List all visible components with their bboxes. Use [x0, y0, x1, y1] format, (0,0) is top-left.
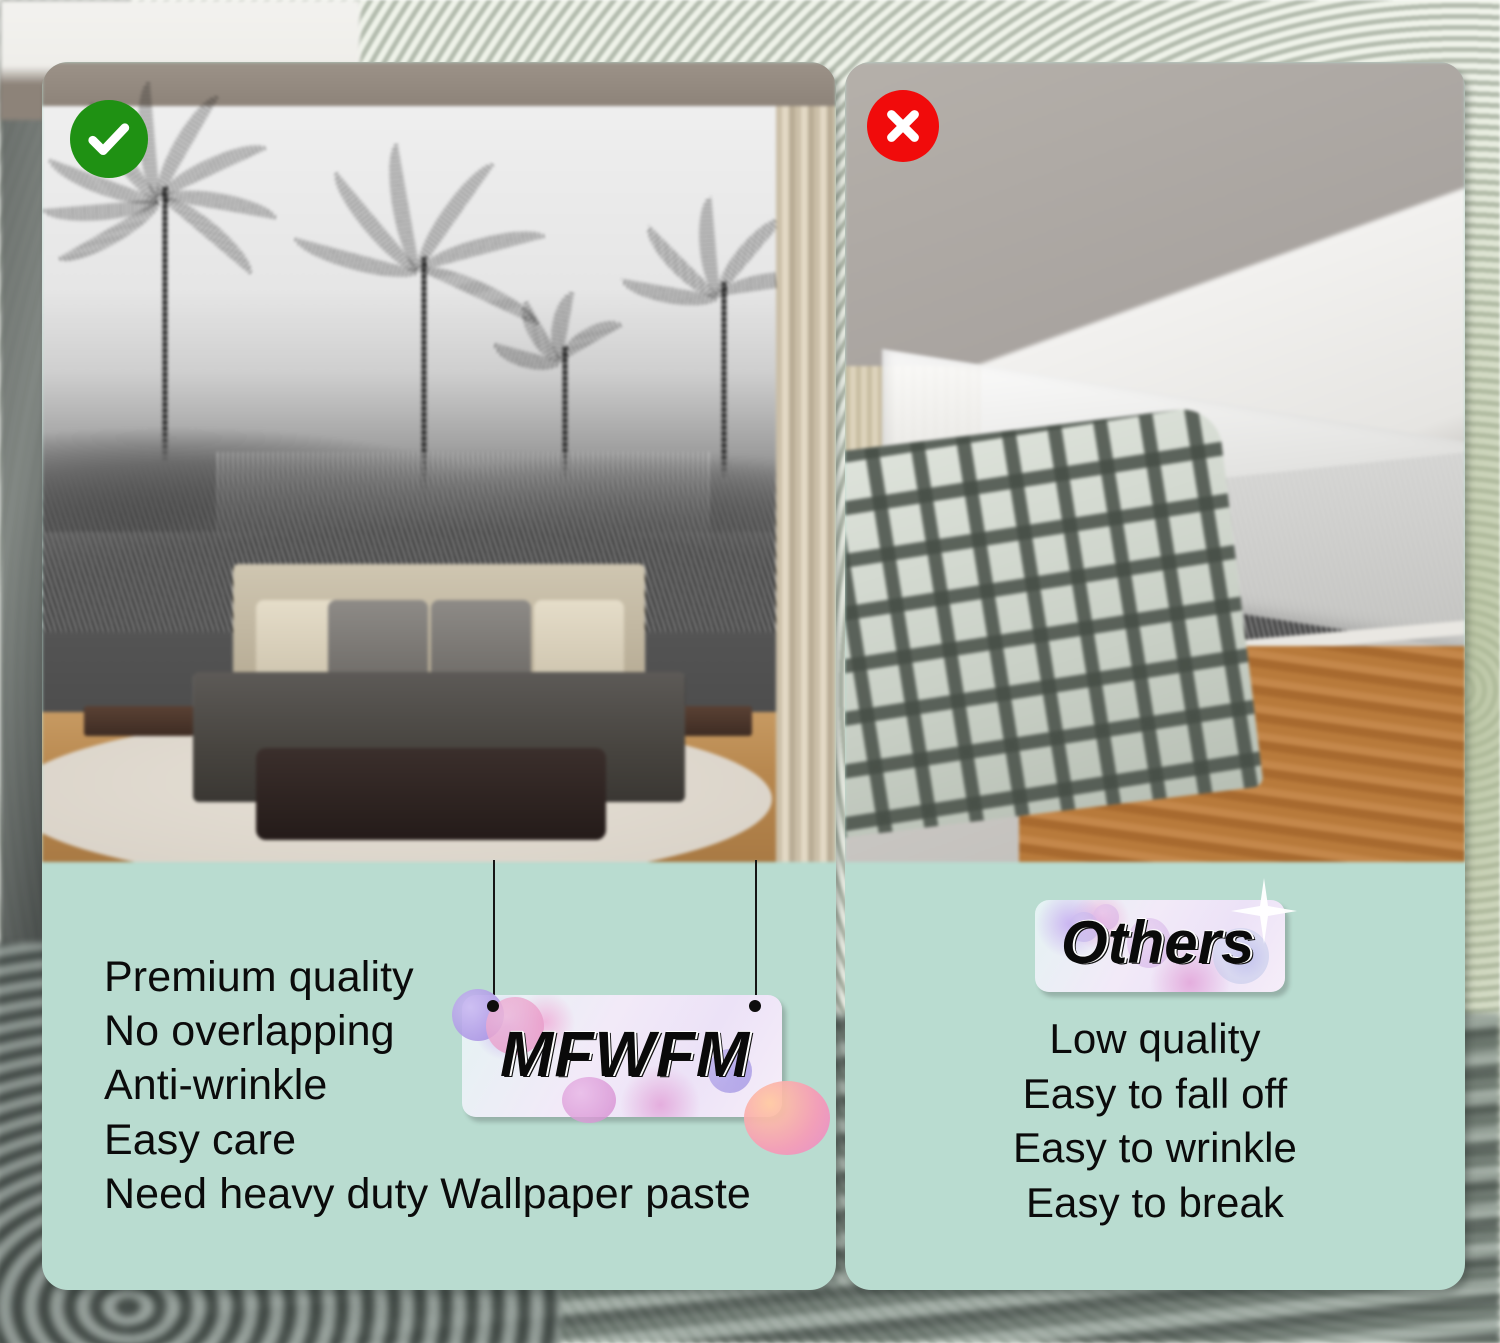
tag-string-left: [493, 860, 495, 1008]
photo-ceiling: [42, 62, 836, 110]
feature-item: Easy to break: [845, 1176, 1465, 1231]
decorative-bubble: [744, 1081, 830, 1155]
feature-item: Easy to wrinkle: [845, 1121, 1465, 1176]
tag-string-right: [755, 860, 757, 1008]
tag-nail-right: [749, 1000, 761, 1012]
brand-tag-mfwfm: MFWFM: [462, 995, 782, 1117]
sparkle-icon: [1229, 876, 1299, 946]
brand-tag-others: Others: [1035, 900, 1285, 992]
x-circle-icon: [867, 90, 939, 162]
good-example-photo: [42, 62, 836, 862]
photo-bench: [256, 748, 605, 840]
photo-curtain: [776, 106, 836, 862]
check-circle-icon: [70, 100, 148, 178]
bad-example-panel: Low quality Easy to fall off Easy to wri…: [845, 62, 1465, 1290]
feature-item: Easy care: [104, 1113, 836, 1167]
photo-nightstand-left: [84, 706, 194, 736]
product-comparison-graphic: Premium quality No overlapping Anti-wrin…: [0, 0, 1500, 1343]
photo-plaid-bed: [845, 405, 1264, 839]
feature-item: Need heavy duty Wallpaper paste: [104, 1167, 836, 1221]
bad-example-photo: [845, 62, 1465, 862]
feature-item: Easy to fall off: [845, 1067, 1465, 1122]
others-label: Others: [1061, 908, 1254, 977]
tag-nail-left: [487, 1000, 499, 1012]
brand-name-label: MFWFM: [500, 1017, 750, 1091]
feature-item: Low quality: [845, 1012, 1465, 1067]
